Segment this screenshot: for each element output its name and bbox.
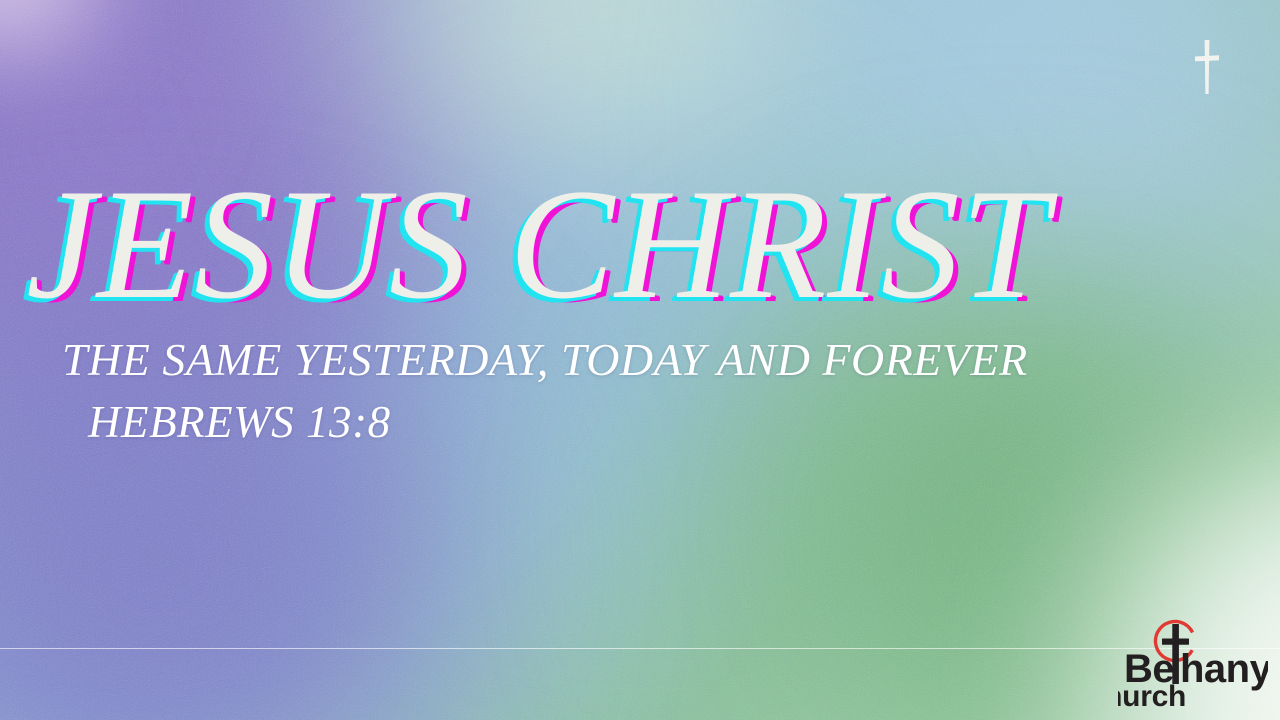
page-title: JESUS CHRIST: [26, 168, 1262, 323]
subtitle-line: THE SAME YESTERDAY, TODAY AND FOREVER: [62, 334, 1028, 386]
logo-wordmark-bethany-rest: hany: [1180, 647, 1268, 691]
sermon-title-slide: JESUS CHRIST THE SAME YESTERDAY, TODAY A…: [0, 0, 1280, 720]
logo-wordmark-church: Church: [1118, 680, 1186, 710]
headline-block: JESUS CHRIST: [26, 168, 1262, 323]
scripture-reference: HEBREWS 13:8: [88, 396, 391, 448]
bethany-church-logo: Be hany Church: [1118, 614, 1268, 710]
cross-icon: [1193, 40, 1221, 94]
divider-line: [0, 648, 1280, 649]
